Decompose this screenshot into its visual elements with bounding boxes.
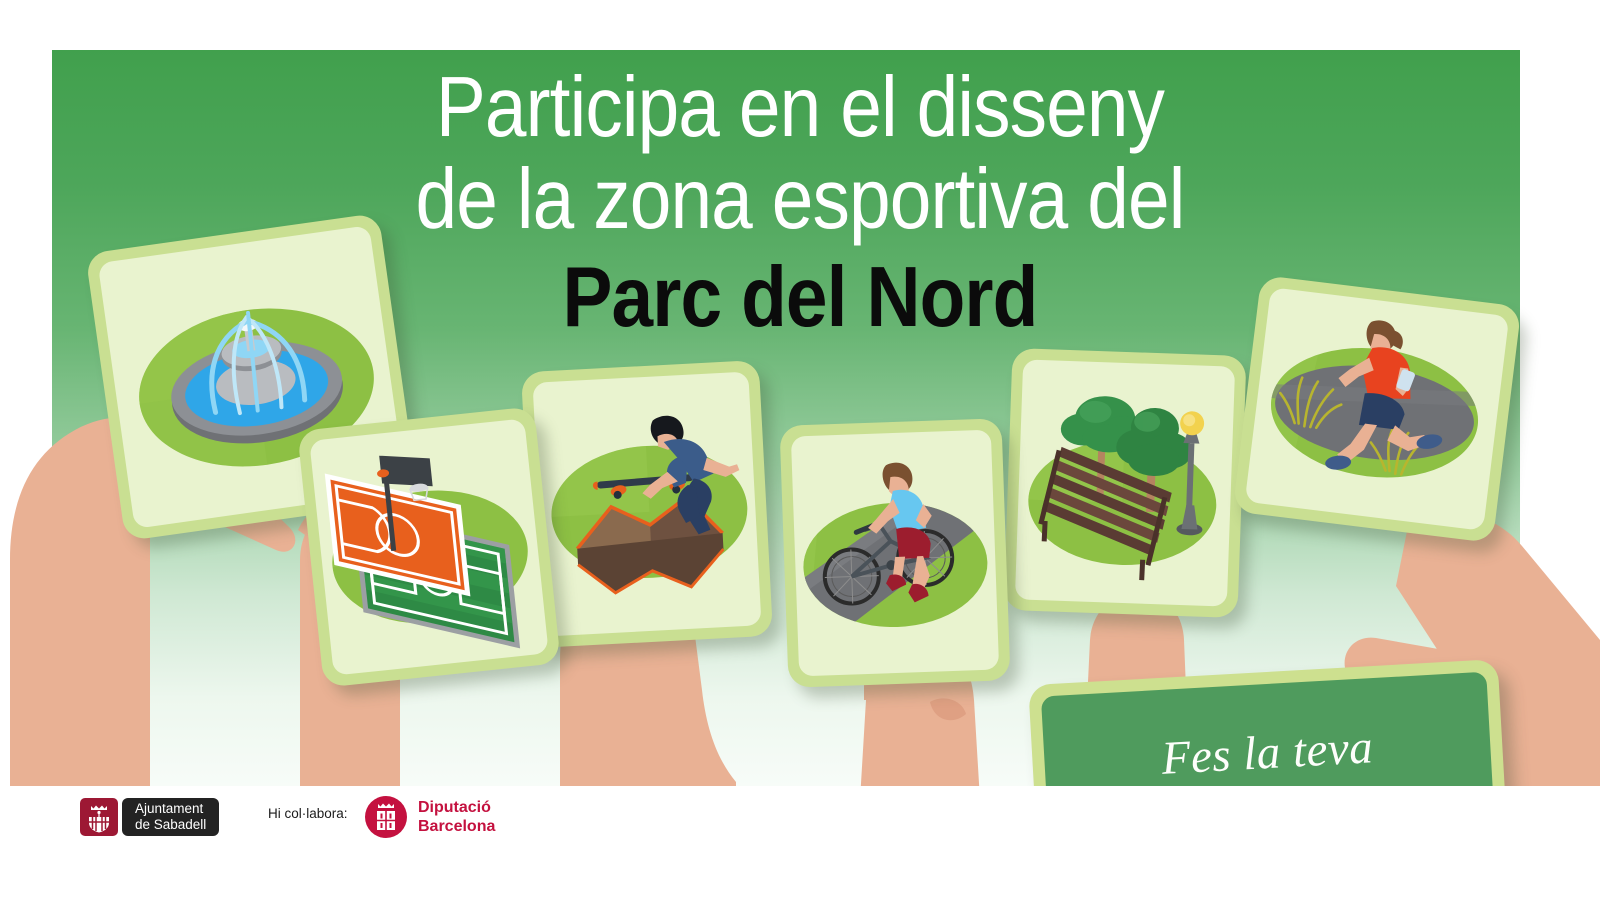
diputacio-line-1: Diputació: [418, 798, 495, 817]
card-bench-lamp-inner: [1015, 359, 1235, 606]
card-sports-court[interactable]: [297, 406, 561, 687]
skate-ramp-illustration: [533, 372, 762, 637]
card-skate-ramp[interactable]: [521, 360, 773, 648]
cycling-illustration: [791, 430, 999, 677]
running-illustration: [1245, 287, 1510, 531]
sabadell-line-1: Ajuntament: [135, 801, 206, 817]
collaborate-label: Hi col·labora:: [268, 806, 348, 821]
footer-bar: Ajuntament de Sabadell Hi col·labora:: [0, 786, 1600, 900]
card-sports-court-inner: [309, 418, 548, 675]
sabadell-name-box: Ajuntament de Sabadell: [122, 798, 219, 836]
card-running-path[interactable]: [1232, 275, 1521, 543]
sabadell-line-2: de Sabadell: [135, 817, 206, 833]
card-cycling-path[interactable]: [779, 418, 1010, 688]
diputacio-crest-icon: [365, 796, 407, 838]
logo-diputacio-barcelona[interactable]: Diputació Barcelona: [365, 796, 495, 838]
sports-court-illustration: [309, 418, 548, 675]
card-bench-lamp[interactable]: [1003, 348, 1246, 618]
diputacio-name: Diputació Barcelona: [418, 798, 495, 836]
bench-lamp-illustration: [1015, 359, 1235, 606]
logo-ajuntament-sabadell[interactable]: Ajuntament de Sabadell: [80, 798, 219, 836]
card-running-path-inner: [1245, 287, 1510, 531]
sabadell-crest-icon: [80, 798, 118, 836]
card-cycling-path-inner: [791, 430, 999, 677]
diputacio-line-2: Barcelona: [418, 817, 495, 836]
card-skate-ramp-inner: [533, 372, 762, 637]
poster-canvas: Participa en el disseny de la zona espor…: [0, 0, 1600, 900]
